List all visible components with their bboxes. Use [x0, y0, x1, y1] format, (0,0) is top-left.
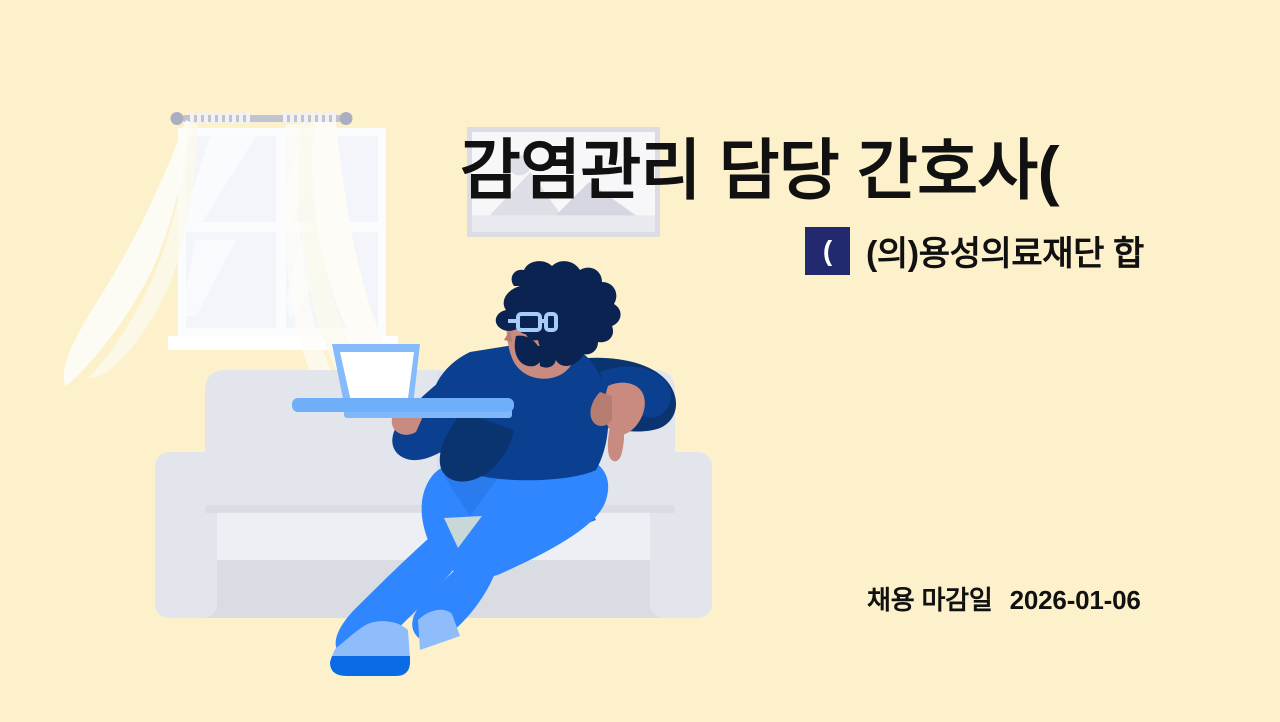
- deadline-label: 채용 마감일: [867, 585, 993, 615]
- page-title: 감염관리 담당 간호사(: [460, 128, 1280, 212]
- deadline-date: 2026-01-06: [1010, 585, 1141, 615]
- company-name: (의)용성의료재단 합: [866, 226, 1144, 275]
- banner-canvas: 감염관리 담당 간호사( ( (의)용성의료재단 합 채용 마감일 2026-0…: [0, 0, 1280, 722]
- company-badge: (: [805, 227, 850, 275]
- text-block: 감염관리 담당 간호사( ( (의)용성의료재단 합 채용 마감일 2026-0…: [460, 118, 1280, 618]
- subtitle-row: ( (의)용성의료재단 합: [805, 226, 1144, 275]
- deadline: 채용 마감일 2026-01-06: [867, 580, 1141, 617]
